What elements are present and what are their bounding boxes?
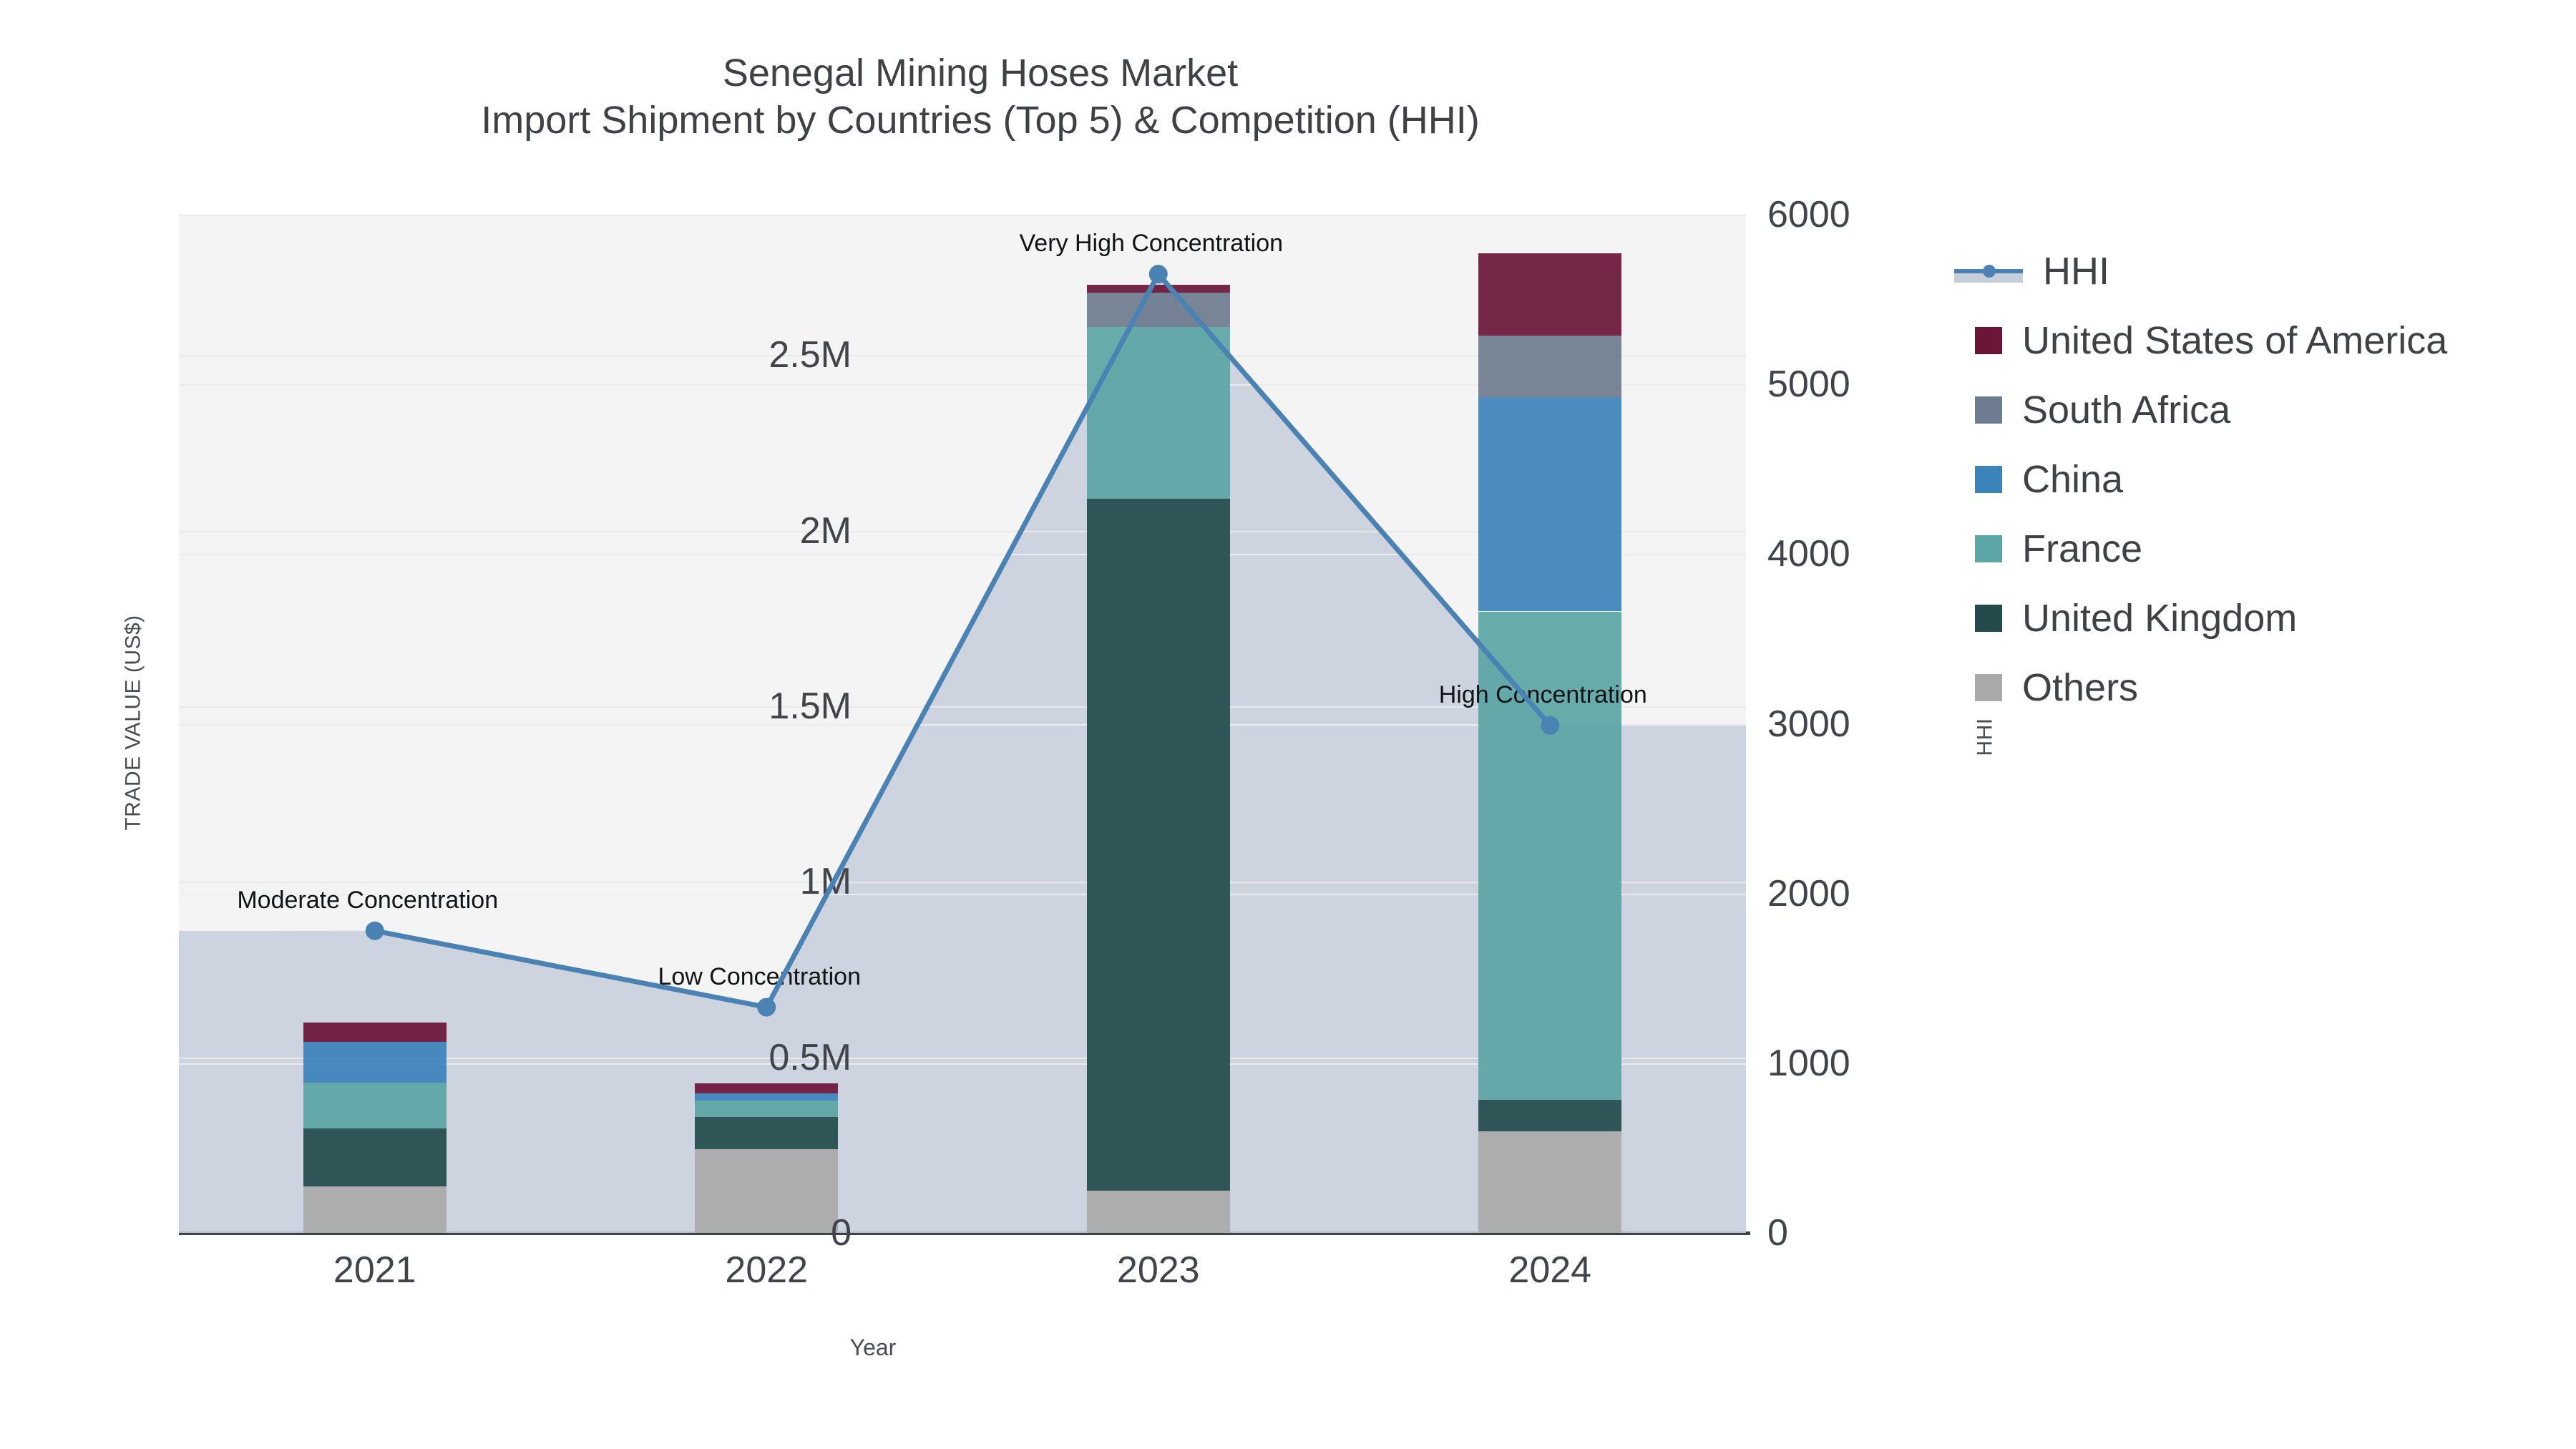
concentration-annotation: Moderate Concentration: [237, 887, 498, 914]
legend-item-label: HHI: [2043, 249, 2109, 293]
legend-item-label: Others: [2022, 665, 2138, 710]
legend-item-label: United Kingdom: [2022, 596, 2297, 640]
legend-swatch-icon: [1975, 535, 2002, 562]
y-tick-label-primary: 0.5M: [769, 1036, 852, 1079]
y-tick-label-secondary: 3000: [1767, 703, 1850, 746]
y-tick-label-secondary: 2000: [1767, 872, 1850, 915]
legend-item[interactable]: United States of America: [1975, 306, 2447, 375]
legend-item[interactable]: HHI: [1975, 236, 2447, 306]
bar-segment[interactable]: [1087, 499, 1230, 1191]
x-tick-label: 2021: [333, 1249, 416, 1292]
bar-segment[interactable]: [303, 1186, 447, 1233]
y-tick-label-secondary: 5000: [1767, 363, 1850, 406]
x-axis-label: Year: [0, 1335, 1746, 1361]
page-title: Senegal Mining Hoses Market: [0, 50, 1961, 97]
bar-segment[interactable]: [695, 1083, 838, 1093]
legend-line-marker-icon: [1954, 258, 2023, 285]
legend-item[interactable]: China: [1975, 444, 2447, 514]
concentration-annotation: Low Concentration: [658, 963, 861, 991]
legend-item[interactable]: Others: [1975, 653, 2447, 722]
x-tick-label: 2022: [725, 1249, 808, 1292]
bar-segment[interactable]: [303, 1128, 447, 1186]
bar-segment[interactable]: [1478, 1131, 1621, 1233]
bar-group[interactable]: [1087, 215, 1230, 1233]
bar-segment[interactable]: [695, 1149, 838, 1233]
bar-segment[interactable]: [1478, 1100, 1621, 1131]
x-tick-label: 2023: [1117, 1249, 1200, 1292]
y-tick-label-secondary: 0: [1767, 1211, 1788, 1254]
bar-segment[interactable]: [1478, 336, 1621, 397]
y-tick-label-primary: 0: [831, 1211, 852, 1254]
bar-segment[interactable]: [303, 1083, 447, 1128]
y-tick-label-secondary: 4000: [1767, 532, 1850, 575]
bar-group[interactable]: [1478, 215, 1621, 1233]
y-axis-label-secondary: HHI: [1974, 718, 1998, 756]
legend-item[interactable]: France: [1975, 514, 2447, 583]
legend-item-label: France: [2022, 527, 2142, 571]
legend-item-label: China: [2022, 457, 2123, 502]
concentration-annotation: Very High Concentration: [1019, 230, 1283, 258]
y-tick-label-secondary: 6000: [1767, 193, 1850, 236]
y-tick-label-secondary: 1000: [1767, 1042, 1850, 1085]
legend-swatch-icon: [1975, 327, 2002, 354]
y-tick-label-primary: 2.5M: [769, 333, 852, 376]
chart-subtitle: Import Shipment by Countries (Top 5) & C…: [0, 97, 1961, 145]
legend-item-label: United States of America: [2022, 318, 2447, 363]
bar-segment[interactable]: [1087, 285, 1230, 293]
y-tick-label-primary: 2M: [800, 509, 852, 552]
bar-segment[interactable]: [1478, 253, 1621, 336]
bar-segment[interactable]: [1087, 293, 1230, 327]
y-tick-label-primary: 1M: [800, 860, 852, 903]
y-tick-label-primary: 1.5M: [769, 685, 852, 728]
chart-legend: HHIUnited States of AmericaSouth AfricaC…: [1975, 236, 2447, 722]
legend-swatch-icon: [1975, 396, 2002, 424]
bar-segment[interactable]: [1087, 1191, 1230, 1233]
legend-swatch-icon: [1975, 605, 2002, 632]
bar-group[interactable]: [303, 215, 447, 1233]
x-tick-label: 2024: [1508, 1249, 1591, 1292]
bar-segment[interactable]: [303, 1042, 447, 1083]
bar-segment[interactable]: [695, 1117, 838, 1149]
legend-item[interactable]: United Kingdom: [1975, 583, 2447, 653]
legend-swatch-icon: [1975, 674, 2002, 701]
legend-item[interactable]: South Africa: [1975, 375, 2447, 444]
bar-segment[interactable]: [1478, 397, 1621, 611]
bar-segment[interactable]: [303, 1023, 447, 1042]
legend-item-label: South Africa: [2022, 388, 2230, 432]
y-axis-label-primary: TRADE VALUE (US$): [122, 615, 146, 830]
bar-segment[interactable]: [695, 1093, 838, 1101]
bar-segment[interactable]: [695, 1101, 838, 1117]
bar-segment[interactable]: [1087, 327, 1230, 499]
legend-swatch-icon: [1975, 466, 2002, 493]
chart-title-block: Senegal Mining Hoses Market Import Shipm…: [0, 50, 1961, 145]
concentration-annotation: High Concentration: [1439, 681, 1647, 709]
